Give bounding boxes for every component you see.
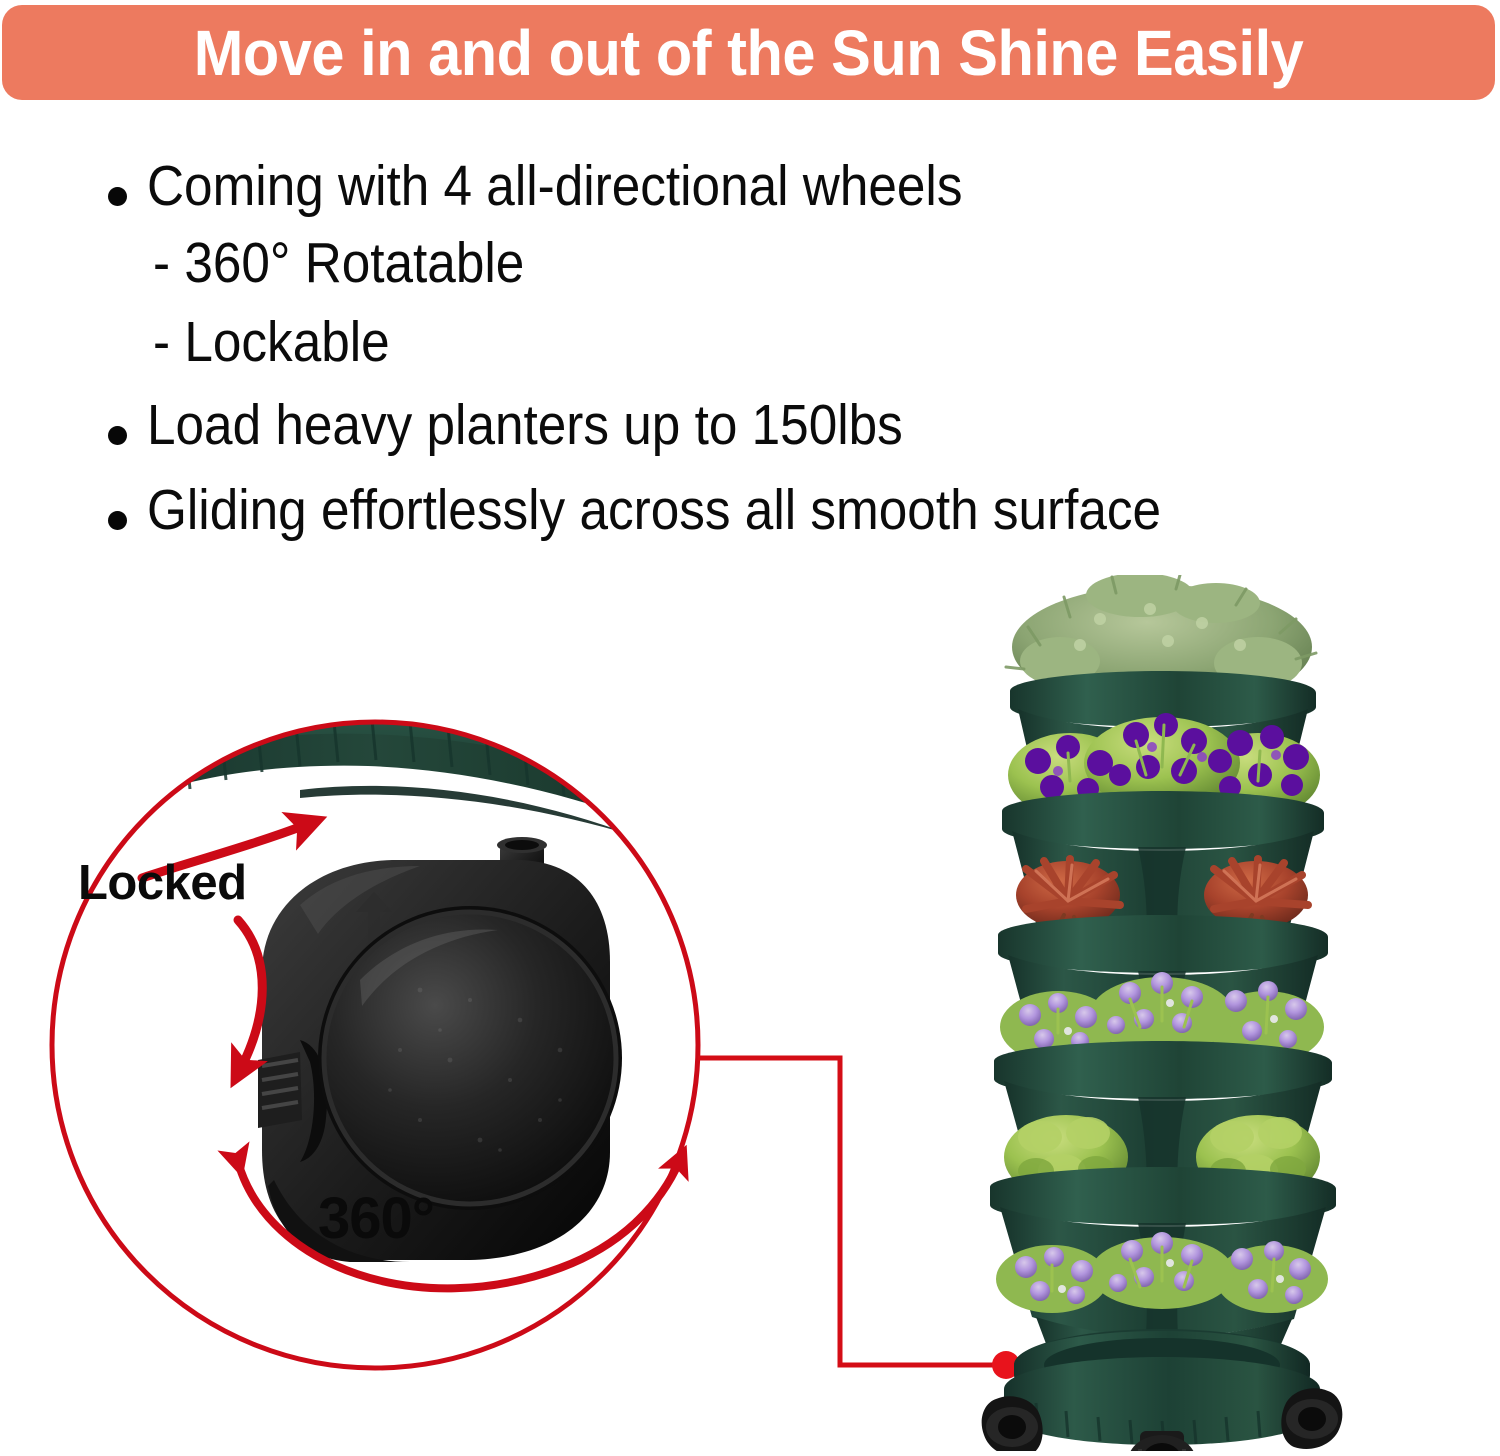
- locked-down-arrow-icon: [238, 920, 262, 1070]
- green-base-plate: [52, 702, 706, 858]
- planter-tower-image: [940, 575, 1380, 1451]
- wheeled-base-caddy: [982, 1329, 1343, 1451]
- planter-tower-graphic: [940, 575, 1380, 1451]
- locked-label: Locked: [78, 855, 247, 911]
- rotation-label: 360°: [318, 1185, 434, 1252]
- caster-wheel: [1281, 1388, 1342, 1449]
- caster-wheel: [258, 837, 622, 1262]
